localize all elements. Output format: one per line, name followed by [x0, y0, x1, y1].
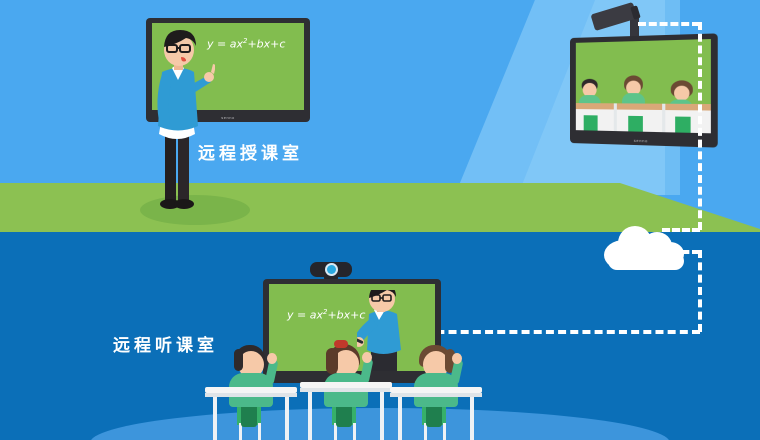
student-hand: [267, 353, 277, 364]
desk-leg: [380, 392, 384, 440]
teacher-svg: [145, 28, 215, 216]
student-hair-side: [234, 349, 243, 371]
link-down-lower: [698, 250, 702, 332]
desk-leg: [470, 397, 474, 440]
remote-desk-divider: [614, 103, 617, 133]
top-room-label: 远程授课室: [198, 139, 303, 164]
student-ponytail: [326, 348, 338, 374]
link-to-bottom-room: [412, 330, 700, 334]
chair-leg: [353, 423, 356, 440]
webcam-lens-inner: [327, 265, 336, 274]
remote-chair: [675, 117, 690, 134]
monitor-screen: [576, 39, 711, 133]
link-camera-to-node: [638, 22, 700, 26]
mini-student-head: [674, 86, 689, 101]
chair-leg: [443, 423, 446, 440]
link-down-right: [698, 22, 702, 230]
student-figure: [205, 345, 301, 440]
desk-leg: [213, 397, 217, 440]
formula-text: y = ax2+bx+c: [287, 308, 365, 322]
student-desk-edge: [300, 388, 392, 392]
display-brand-logo: senno: [221, 115, 234, 120]
remote-chair: [628, 116, 643, 133]
student-figure: [390, 345, 486, 440]
cloud-icon: [604, 222, 694, 270]
student-figure: [300, 340, 396, 440]
student-desk-edge: [205, 393, 297, 397]
chair-leg: [258, 423, 261, 440]
desk-leg: [285, 397, 289, 440]
formula-text: y = ax2+bx+c: [207, 37, 285, 51]
teacher-figure: [145, 28, 215, 216]
monitor-brand-logo: senno: [634, 138, 648, 144]
desk-leg: [308, 392, 312, 440]
cloud-base: [608, 252, 684, 270]
bottom-room-label: 远程听课室: [113, 331, 218, 356]
hair-bow: [334, 340, 348, 348]
student-hand: [452, 353, 462, 364]
remote-monitor[interactable]: senno: [570, 33, 718, 147]
illustration-canvas: y = ax2+bx+c senno: [0, 0, 760, 440]
remote-desk-divider: [662, 104, 665, 134]
desk-leg: [398, 397, 402, 440]
student-hand: [362, 352, 372, 363]
student-desk-edge: [390, 393, 482, 397]
